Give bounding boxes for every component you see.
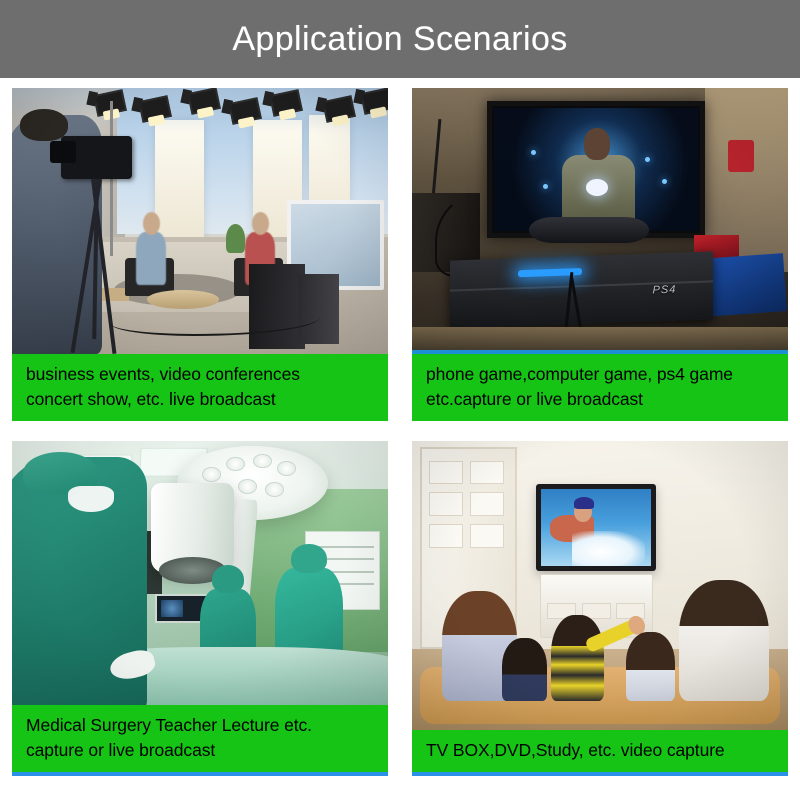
game-light-spark bbox=[645, 157, 650, 162]
studio-flat-panel bbox=[155, 120, 204, 248]
tv-screen bbox=[541, 489, 651, 566]
door-pane bbox=[470, 461, 504, 485]
living-room-photo bbox=[412, 441, 788, 730]
scenario-panel-ps4-game[interactable]: PS4 phone game,computer game, ps4 game e… bbox=[400, 78, 800, 433]
scenario-caption-medical-surgery: Medical Surgery Teacher Lecture etc. cap… bbox=[12, 705, 388, 776]
light-stand bbox=[110, 101, 113, 255]
camera-lens-icon bbox=[50, 141, 76, 162]
scenario-panel-tv-box[interactable]: TV BOX,DVD,Study, etc. video capture bbox=[400, 433, 800, 788]
family-member-child bbox=[502, 638, 547, 702]
family-member-child bbox=[626, 632, 675, 701]
wooden-shelf bbox=[412, 327, 788, 351]
scenario-panel-business-events[interactable]: business events, video conferences conce… bbox=[0, 78, 400, 433]
page-title: Application Scenarios bbox=[232, 20, 567, 59]
ps4-photo: PS4 bbox=[412, 88, 788, 350]
surgery-photo bbox=[12, 441, 388, 705]
studio-photo bbox=[12, 88, 388, 354]
page-header: Application Scenarios bbox=[0, 0, 800, 78]
red-clip bbox=[728, 140, 754, 171]
application-scenarios-page: Application Scenarios bbox=[0, 0, 800, 800]
scenario-panel-medical-surgery[interactable]: Medical Surgery Teacher Lecture etc. cap… bbox=[0, 433, 400, 788]
scenario-caption-ps4-game: phone game,computer game, ps4 game etc.c… bbox=[412, 354, 788, 421]
studio-plant bbox=[226, 224, 245, 253]
lamp-bulb bbox=[226, 457, 246, 472]
lamp-bulb bbox=[265, 482, 285, 497]
scenario-caption-business-events: business events, video conferences conce… bbox=[12, 354, 388, 421]
lamp-bulb bbox=[202, 467, 222, 482]
door-pane bbox=[429, 461, 463, 485]
lamp-bulb bbox=[253, 454, 273, 469]
studio-guest bbox=[136, 232, 166, 285]
scenario-caption-tv-box: TV BOX,DVD,Study, etc. video capture bbox=[412, 730, 788, 776]
lamp-bulb bbox=[277, 461, 297, 476]
studio-light-icon bbox=[360, 88, 388, 115]
game-controller bbox=[529, 217, 649, 243]
game-character-head bbox=[584, 128, 611, 160]
surgical-mask bbox=[68, 486, 113, 512]
game-light-spark bbox=[531, 150, 536, 155]
flat-screen-tv bbox=[536, 484, 656, 571]
door-pane bbox=[429, 524, 463, 548]
ps4-console: PS4 bbox=[450, 251, 713, 328]
game-light-spark bbox=[662, 179, 667, 184]
family-member-child bbox=[551, 615, 604, 702]
lamp-bulb bbox=[238, 479, 258, 494]
water-splash bbox=[572, 531, 645, 566]
door-pane bbox=[470, 524, 504, 548]
door-pane bbox=[429, 492, 463, 516]
scenario-grid: business events, video conferences conce… bbox=[0, 78, 800, 800]
door-pane bbox=[470, 492, 504, 516]
game-light-spark bbox=[543, 184, 548, 189]
swim-cap bbox=[574, 497, 594, 509]
family-member-father bbox=[679, 580, 769, 701]
ps4-logo-label: PS4 bbox=[652, 284, 676, 297]
